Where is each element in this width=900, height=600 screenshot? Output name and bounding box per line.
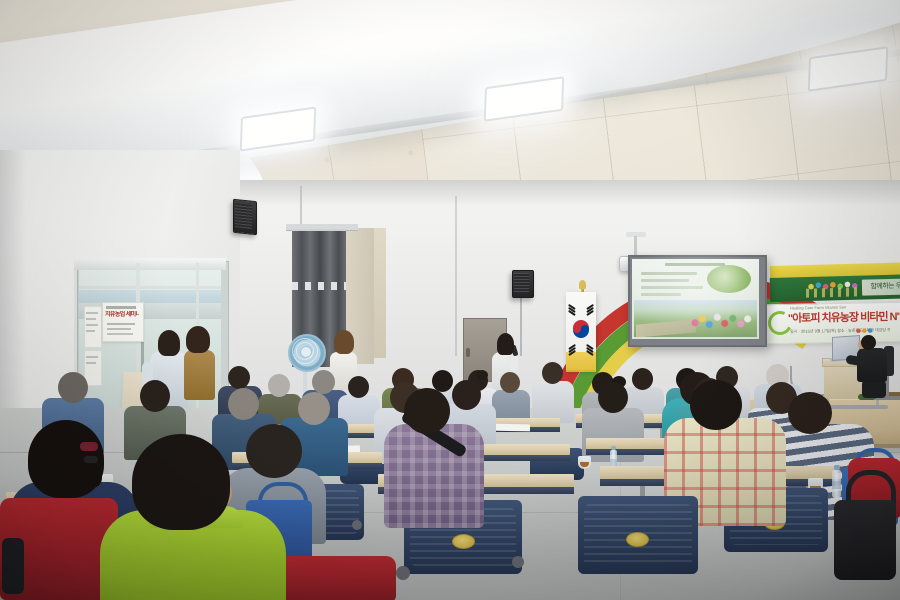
attendee-ponytail xyxy=(80,448,102,488)
chair-armrest xyxy=(2,538,24,594)
partition-clips xyxy=(292,282,346,290)
notice-text-line xyxy=(86,318,96,320)
speaker-grille-icon xyxy=(235,203,252,229)
chair-crest-badge xyxy=(452,534,475,549)
attendee xyxy=(532,381,574,423)
attendee-head xyxy=(788,392,832,434)
notice-text-line xyxy=(86,356,98,358)
door-poster-eyebrow xyxy=(106,306,136,309)
chair-caster xyxy=(396,566,410,580)
banner-sponsor-logos xyxy=(855,326,897,336)
wall-band-title: 함께하는 우리 xyxy=(862,278,900,295)
glass-door-top-rail xyxy=(74,258,226,270)
attendee-head xyxy=(228,388,259,420)
attendee-head xyxy=(228,366,250,389)
notice-text-line xyxy=(86,324,98,326)
black-bag[interactable] xyxy=(834,500,896,580)
glass-door-mullion xyxy=(79,286,221,289)
notice-text-line xyxy=(86,362,96,364)
attendee-head xyxy=(246,424,302,478)
hair-tie xyxy=(80,442,98,451)
attendee-head xyxy=(500,372,520,393)
banner-headline-text: "아토피 치유농장 비타민 N" 치유농업 세미나 xyxy=(788,310,900,326)
standing-attendee-head xyxy=(186,326,210,353)
chair-caster xyxy=(512,556,524,568)
fan-hub xyxy=(300,346,312,358)
taeguk-icon xyxy=(581,325,589,333)
attendee-head xyxy=(598,382,628,413)
door-poster-line xyxy=(107,323,135,325)
attendee-head xyxy=(452,380,481,410)
screen-glow xyxy=(628,255,763,343)
chair-caster xyxy=(352,520,362,530)
attendee-head xyxy=(140,380,170,412)
door-handle-icon[interactable] xyxy=(466,348,470,357)
standing-attendee-head xyxy=(334,330,354,354)
presenter-hair xyxy=(497,333,514,355)
operator-head xyxy=(861,335,876,350)
bottle-cap xyxy=(834,465,840,470)
attendee-head xyxy=(132,434,230,530)
attendee-head xyxy=(542,362,563,384)
operator-leg xyxy=(862,380,886,398)
standing-attendee-head xyxy=(158,330,180,356)
chair-crest-badge xyxy=(626,532,649,547)
attendee-head xyxy=(298,392,330,425)
door-poster-line xyxy=(107,328,131,330)
attendee-head xyxy=(404,388,450,434)
taeguk-icon xyxy=(573,325,581,333)
speaker-mount-pole xyxy=(520,296,522,356)
bottle-label xyxy=(610,459,617,466)
bottle-cap xyxy=(611,446,616,450)
door-poster-title: 치유농업 세미나 xyxy=(105,311,139,319)
front-wall-shadow xyxy=(230,180,900,206)
wall-seam xyxy=(455,196,457,356)
seminar-room-photo: 함께하는 우리 Healing Care Farm Vitamin Semina… xyxy=(0,0,900,600)
attendee-head xyxy=(632,368,653,390)
attendee-hair-bun xyxy=(476,370,488,380)
speaker-grille-icon xyxy=(514,273,529,292)
attendee-head xyxy=(268,374,290,397)
attendee-head xyxy=(348,376,369,398)
standing-attendee xyxy=(184,350,215,400)
notice-text-line xyxy=(86,312,98,314)
eyeglasses-icon xyxy=(84,456,98,463)
notice-text-line xyxy=(86,330,95,332)
bottle-label xyxy=(832,481,841,489)
flag-finial xyxy=(579,280,586,289)
attendee-head xyxy=(690,380,742,430)
attendee-head xyxy=(312,370,335,394)
attendee-head xyxy=(58,372,88,403)
wall-band-figure-bodies xyxy=(806,287,862,297)
door-poster-line xyxy=(107,333,133,335)
